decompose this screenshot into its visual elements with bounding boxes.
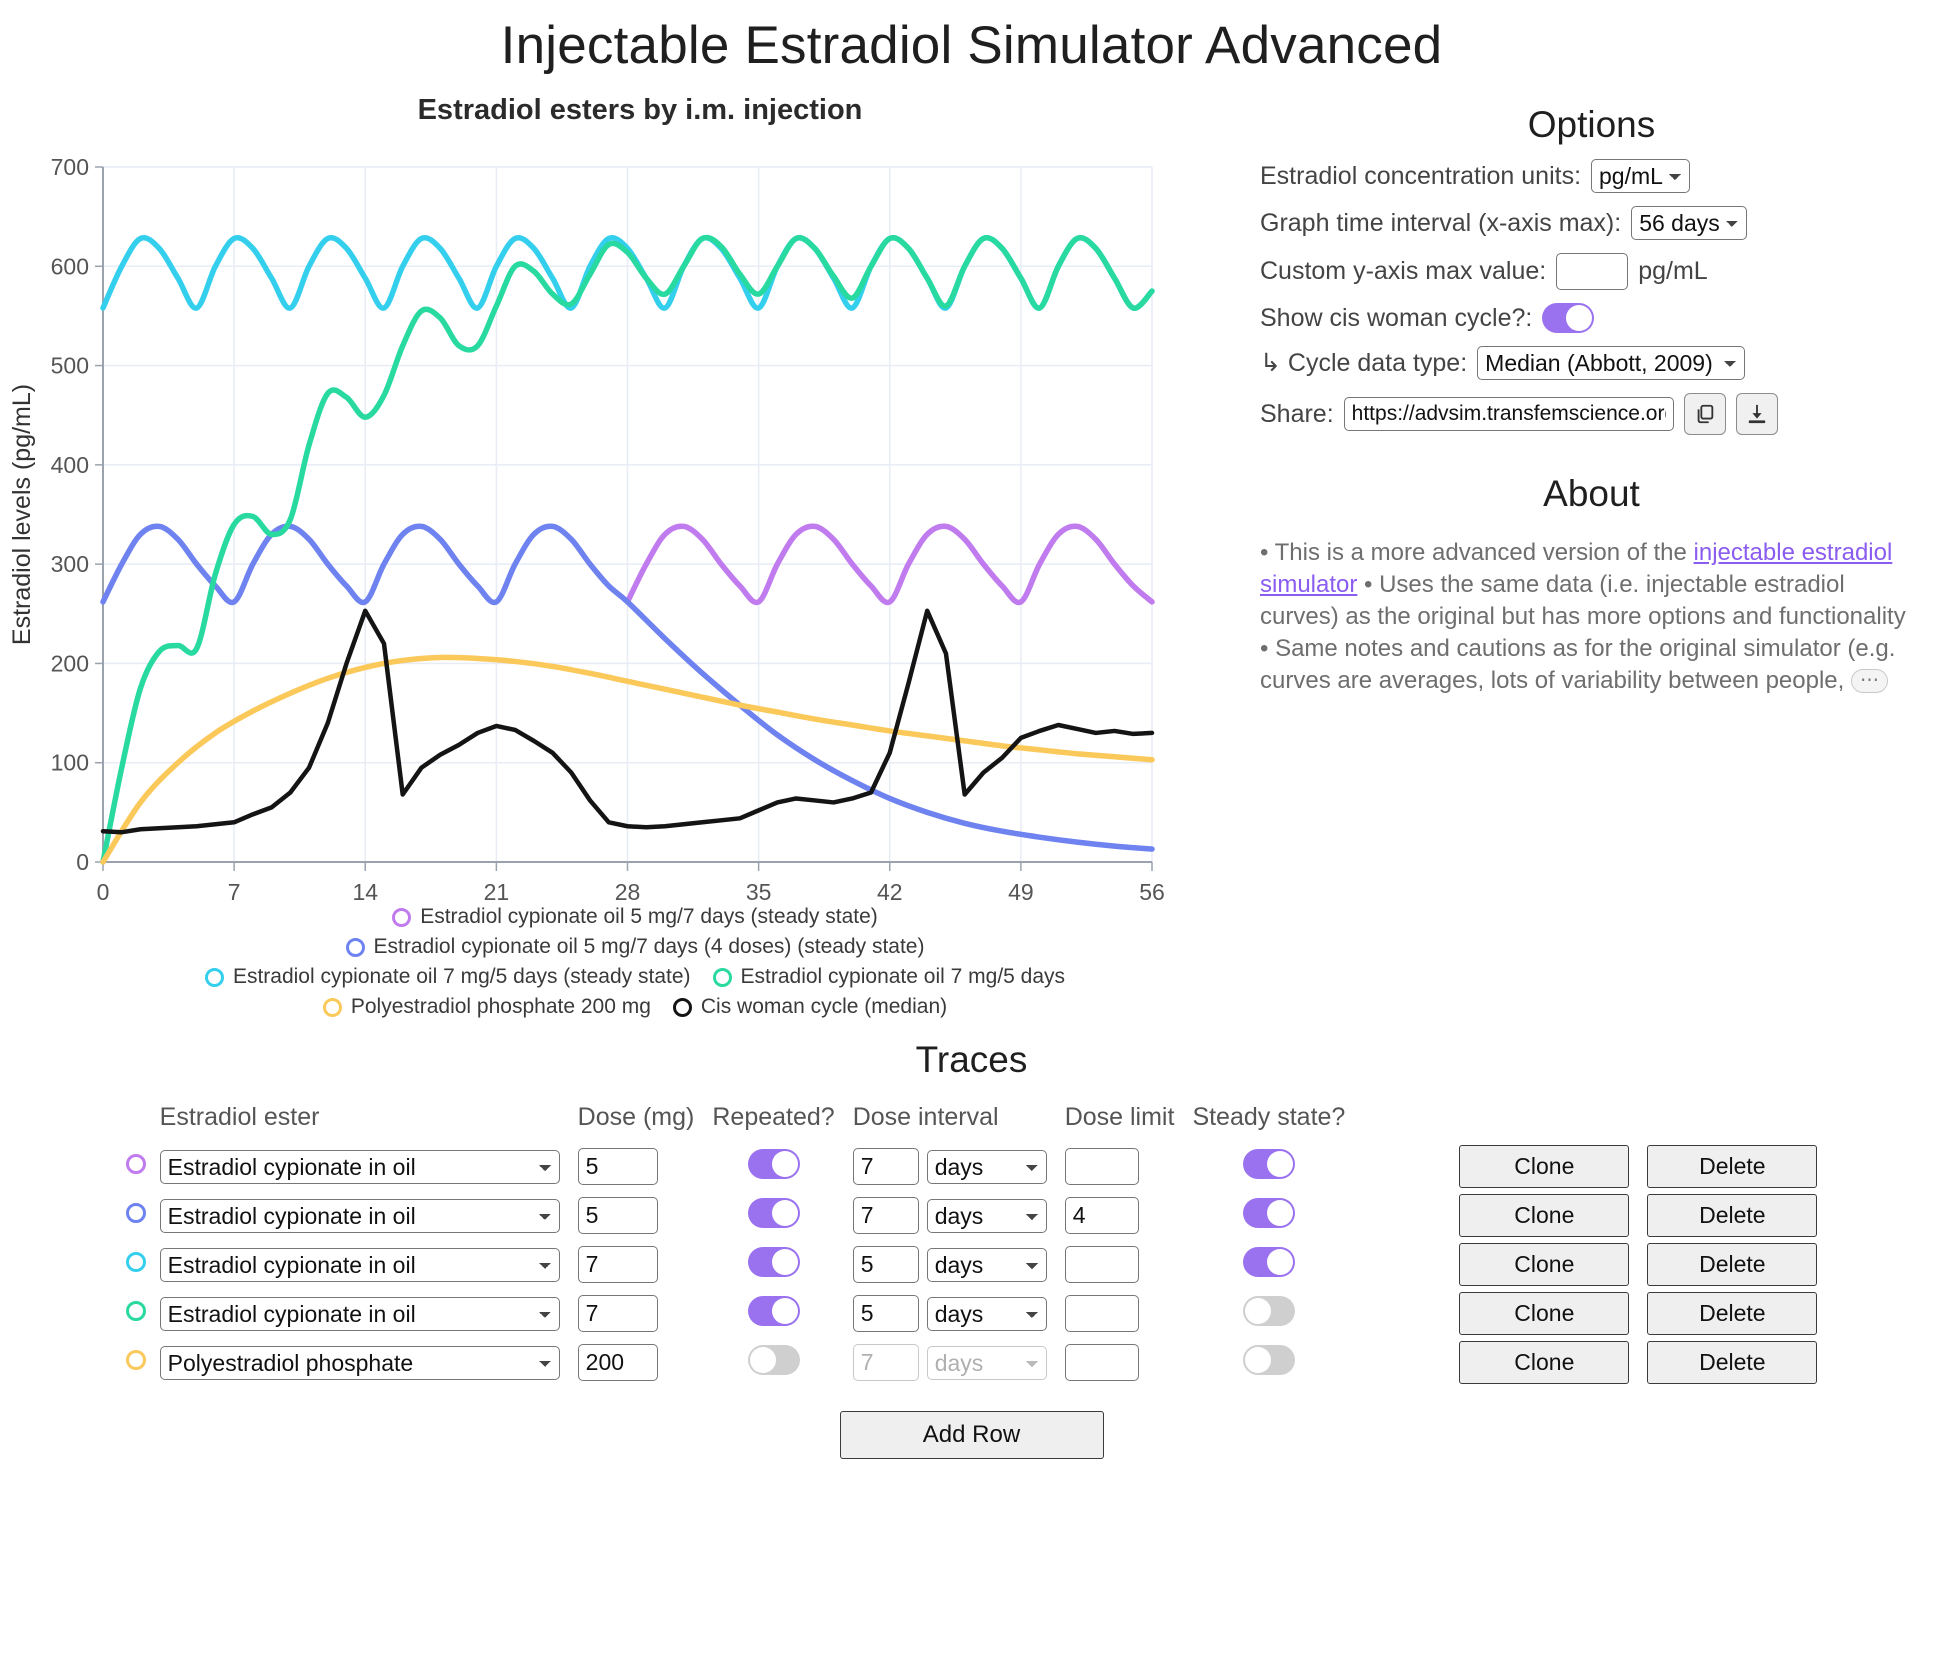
repeated-cell <box>712 1240 852 1289</box>
steady-state-toggle[interactable] <box>1243 1247 1295 1277</box>
clone-cell: Clone <box>1363 1142 1629 1191</box>
options-heading: Options <box>1240 76 1943 146</box>
trace-color-icon <box>126 1154 146 1174</box>
legend-item-1[interactable]: Estradiol cypionate oil 5 mg/7 days (4 d… <box>346 935 925 959</box>
dose-input[interactable] <box>578 1148 658 1185</box>
toggle-knob-icon <box>750 1347 776 1373</box>
download-button[interactable] <box>1736 393 1778 435</box>
show-cycle-toggle[interactable] <box>1542 303 1594 333</box>
steady-cell <box>1192 1142 1363 1191</box>
steady-cell <box>1192 1191 1363 1240</box>
repeated-toggle[interactable] <box>748 1296 800 1326</box>
legend-label: Polyestradiol phosphate 200 mg <box>351 995 651 1019</box>
steady-state-toggle[interactable] <box>1243 1149 1295 1179</box>
interval-unit-cell: days <box>919 1142 1065 1191</box>
clone-button[interactable]: Clone <box>1459 1243 1629 1286</box>
x-tick-label: 28 <box>615 879 641 905</box>
repeated-cell <box>712 1289 852 1338</box>
toggle-knob-icon <box>1245 1347 1271 1373</box>
toggle-knob-icon <box>772 1200 798 1226</box>
trace-color-icon <box>126 1301 146 1321</box>
y-tick-label: 200 <box>51 650 89 676</box>
time-interval-row: Graph time interval (x-axis max): 56 day… <box>1240 193 1943 240</box>
cycle-data-select[interactable]: Median (Abbott, 2009) <box>1477 346 1745 380</box>
interval-unit-select[interactable]: days <box>927 1248 1047 1282</box>
units-row: Estradiol concentration units: pg/mL <box>1240 146 1943 193</box>
x-tick-label: 14 <box>352 879 378 905</box>
traces-heading: Traces <box>0 1025 1943 1081</box>
table-row: Estradiol cypionate in oildaysCloneDelet… <box>126 1142 1818 1191</box>
add-row-button[interactable]: Add Row <box>840 1411 1104 1459</box>
legend-swatch-icon <box>713 968 732 987</box>
th-steady: Steady state? <box>1192 1103 1363 1142</box>
table-row: Polyestradiol phosphatedaysCloneDelete <box>126 1338 1818 1387</box>
interval-unit-select[interactable]: days <box>927 1199 1047 1233</box>
y-axis-title: Estradiol levels (pg/mL) <box>8 384 36 645</box>
x-tick-label: 56 <box>1139 879 1165 905</box>
clone-button[interactable]: Clone <box>1459 1292 1629 1335</box>
delete-cell: Delete <box>1629 1191 1817 1240</box>
limit-cell <box>1065 1289 1193 1338</box>
th-clone <box>1363 1103 1629 1142</box>
copy-icon <box>1694 403 1716 425</box>
legend-row-2: Estradiol cypionate oil 5 mg/7 days (4 d… <box>0 935 1240 959</box>
interval-unit-cell: days <box>919 1338 1065 1387</box>
traces-table-head: Estradiol ester Dose (mg) Repeated? Dose… <box>126 1103 1818 1142</box>
share-row: Share: <box>1240 380 1943 435</box>
th-ester: Estradiol ester <box>160 1103 578 1142</box>
main-layout: Estradiol esters by i.m. injection 01002… <box>0 76 1943 1025</box>
custom-y-suffix: pg/mL <box>1638 257 1707 286</box>
legend-swatch-icon <box>673 998 692 1017</box>
ester-cell: Estradiol cypionate in oil <box>160 1240 578 1289</box>
dose-limit-input[interactable] <box>1065 1295 1139 1332</box>
interval-unit-select[interactable]: days <box>927 1150 1047 1184</box>
traces-header-row: Estradiol ester Dose (mg) Repeated? Dose… <box>126 1103 1818 1142</box>
limit-cell <box>1065 1338 1193 1387</box>
repeated-toggle[interactable] <box>748 1198 800 1228</box>
steady-state-toggle[interactable] <box>1243 1345 1295 1375</box>
cycle-toggle-row: Show cis woman cycle?: <box>1240 290 1943 333</box>
ester-select[interactable]: Estradiol cypionate in oil <box>160 1199 560 1233</box>
clone-cell: Clone <box>1363 1191 1629 1240</box>
delete-cell: Delete <box>1629 1240 1817 1289</box>
dose-limit-input[interactable] <box>1065 1197 1139 1234</box>
cycle-toggle-label: Show cis woman cycle?: <box>1260 304 1532 333</box>
legend-swatch-icon <box>346 938 365 957</box>
copy-button[interactable] <box>1684 393 1726 435</box>
steady-state-toggle[interactable] <box>1243 1198 1295 1228</box>
ester-cell: Estradiol cypionate in oil <box>160 1142 578 1191</box>
legend-item-5[interactable]: Cis woman cycle (median) <box>673 995 947 1019</box>
interval-unit-select[interactable]: days <box>927 1297 1047 1331</box>
toggle-knob-icon <box>772 1298 798 1324</box>
clone-button[interactable]: Clone <box>1459 1194 1629 1237</box>
row-color-cell <box>126 1142 160 1191</box>
cycle-data-label: ↳ Cycle data type: <box>1260 348 1467 378</box>
options-column: Options Estradiol concentration units: p… <box>1240 76 1943 697</box>
delete-button[interactable]: Delete <box>1647 1145 1817 1188</box>
clone-button[interactable]: Clone <box>1459 1341 1629 1384</box>
about-text-part1: • This is a more advanced version of the <box>1260 539 1694 566</box>
time-interval-select[interactable]: 56 days <box>1631 206 1747 240</box>
interval-unit-cell: days <box>919 1240 1065 1289</box>
legend-swatch-icon <box>205 968 224 987</box>
x-tick-label: 7 <box>228 879 241 905</box>
traces-table: Estradiol ester Dose (mg) Repeated? Dose… <box>126 1103 1818 1387</box>
page-title: Injectable Estradiol Simulator Advanced <box>0 0 1943 76</box>
repeated-cell <box>712 1338 852 1387</box>
share-label: Share: <box>1260 400 1334 429</box>
interval-value-cell <box>853 1142 919 1191</box>
y-tick-label: 400 <box>51 452 89 478</box>
interval-unit-cell: days <box>919 1289 1065 1338</box>
clone-cell: Clone <box>1363 1289 1629 1338</box>
row-color-cell <box>126 1289 160 1338</box>
x-tick-label: 35 <box>746 879 772 905</box>
units-select[interactable]: pg/mL <box>1591 159 1690 193</box>
row-color-cell <box>126 1338 160 1387</box>
ester-cell: Polyestradiol phosphate <box>160 1338 578 1387</box>
table-row: Estradiol cypionate in oildaysCloneDelet… <box>126 1240 1818 1289</box>
y-tick-label: 600 <box>51 253 89 279</box>
th-dose: Dose (mg) <box>578 1103 713 1142</box>
delete-cell: Delete <box>1629 1142 1817 1191</box>
y-tick-label: 700 <box>51 154 89 180</box>
th-color <box>126 1103 160 1142</box>
ester-select[interactable]: Polyestradiol phosphate <box>160 1346 560 1380</box>
table-row: Estradiol cypionate in oildaysCloneDelet… <box>126 1289 1818 1338</box>
dose-input[interactable] <box>578 1197 658 1234</box>
repeated-cell <box>712 1142 852 1191</box>
steady-cell <box>1192 1338 1363 1387</box>
trace-color-icon <box>126 1203 146 1223</box>
clone-cell: Clone <box>1363 1240 1629 1289</box>
toggle-knob-icon <box>772 1151 798 1177</box>
delete-cell: Delete <box>1629 1338 1817 1387</box>
y-tick-label: 300 <box>51 551 89 577</box>
steady-cell <box>1192 1289 1363 1338</box>
download-icon <box>1746 403 1768 425</box>
chart-column: Estradiol esters by i.m. injection 01002… <box>0 76 1240 1025</box>
traces-section: Traces Estradiol ester Dose (mg) Repeate… <box>0 1025 1943 1459</box>
y-tick-label: 0 <box>76 849 89 875</box>
row-color-cell <box>126 1191 160 1240</box>
time-interval-label: Graph time interval (x-axis max): <box>1260 209 1621 238</box>
units-label: Estradiol concentration units: <box>1260 162 1581 191</box>
th-delete <box>1629 1103 1817 1142</box>
dose-cell <box>578 1191 713 1240</box>
repeated-cell <box>712 1191 852 1240</box>
limit-cell <box>1065 1191 1193 1240</box>
delete-button[interactable]: Delete <box>1647 1243 1817 1286</box>
interval-input[interactable] <box>853 1246 919 1283</box>
custom-y-row: Custom y-axis max value: pg/mL <box>1240 240 1943 290</box>
interval-input[interactable] <box>853 1197 919 1234</box>
estradiol-line-chart: 01002003004005006007000714212835424956Ti… <box>0 127 1200 917</box>
clone-cell: Clone <box>1363 1338 1629 1387</box>
table-row: Estradiol cypionate in oildaysCloneDelet… <box>126 1191 1818 1240</box>
toggle-knob-icon <box>772 1249 798 1275</box>
ester-select[interactable]: Estradiol cypionate in oil <box>160 1150 560 1184</box>
dose-input[interactable] <box>578 1344 658 1381</box>
dose-limit-input[interactable] <box>1065 1148 1139 1185</box>
x-tick-label: 42 <box>877 879 903 905</box>
th-limit: Dose limit <box>1065 1103 1193 1142</box>
about-text-part2: • Uses the same data (i.e. injectable es… <box>1260 571 1906 694</box>
legend-label: Estradiol cypionate oil 7 mg/5 days <box>741 965 1066 989</box>
trace-color-icon <box>126 1350 146 1370</box>
ester-select[interactable]: Estradiol cypionate in oil <box>160 1297 560 1331</box>
legend-label: Estradiol cypionate oil 7 mg/5 days (ste… <box>233 965 691 989</box>
cycle-data-row: ↳ Cycle data type: Median (Abbott, 2009) <box>1240 333 1943 380</box>
dose-input[interactable] <box>578 1246 658 1283</box>
ester-cell: Estradiol cypionate in oil <box>160 1289 578 1338</box>
dose-cell <box>578 1289 713 1338</box>
limit-cell <box>1065 1240 1193 1289</box>
dose-limit-input[interactable] <box>1065 1344 1139 1381</box>
dose-cell <box>578 1240 713 1289</box>
interval-value-cell <box>853 1289 919 1338</box>
x-tick-label: 0 <box>97 879 110 905</box>
chart-legend: Estradiol cypionate oil 5 mg/7 days (ste… <box>0 905 1240 1019</box>
th-repeated: Repeated? <box>712 1103 852 1142</box>
toggle-knob-icon <box>1245 1298 1271 1324</box>
ester-cell: Estradiol cypionate in oil <box>160 1191 578 1240</box>
legend-label: Cis woman cycle (median) <box>701 995 947 1019</box>
dose-cell <box>578 1338 713 1387</box>
toggle-knob-icon <box>1267 1151 1293 1177</box>
repeated-toggle[interactable] <box>748 1345 800 1375</box>
delete-button[interactable]: Delete <box>1647 1292 1817 1335</box>
y-tick-label: 500 <box>51 353 89 379</box>
legend-item-2[interactable]: Estradiol cypionate oil 7 mg/5 days (ste… <box>205 965 691 989</box>
interval-input[interactable] <box>853 1295 919 1332</box>
y-tick-label: 100 <box>51 750 89 776</box>
about-heading: About <box>1240 435 1943 515</box>
dose-input[interactable] <box>578 1295 658 1332</box>
steady-cell <box>1192 1240 1363 1289</box>
delete-button[interactable]: Delete <box>1647 1194 1817 1237</box>
trace-color-icon <box>126 1252 146 1272</box>
legend-swatch-icon <box>323 998 342 1017</box>
interval-unit-select[interactable]: days <box>927 1346 1047 1380</box>
ester-select[interactable]: Estradiol cypionate in oil <box>160 1248 560 1282</box>
toggle-knob-icon <box>1267 1200 1293 1226</box>
row-color-cell <box>126 1240 160 1289</box>
custom-y-label: Custom y-axis max value: <box>1260 257 1546 286</box>
delete-cell: Delete <box>1629 1289 1817 1338</box>
dose-cell <box>578 1142 713 1191</box>
th-interval: Dose interval <box>853 1103 1065 1142</box>
clone-button[interactable]: Clone <box>1459 1145 1629 1188</box>
legend-label: Estradiol cypionate oil 5 mg/7 days (4 d… <box>374 935 925 959</box>
about-expand-button[interactable]: ⋯ <box>1851 669 1888 693</box>
chart-area: 01002003004005006007000714212835424956Ti… <box>0 127 1240 917</box>
interval-input[interactable] <box>853 1148 919 1185</box>
legend-row-4: Polyestradiol phosphate 200 mg Cis woman… <box>0 995 1240 1019</box>
limit-cell <box>1065 1142 1193 1191</box>
interval-input[interactable] <box>853 1344 919 1381</box>
share-url-input[interactable] <box>1344 397 1674 431</box>
custom-y-input[interactable] <box>1556 253 1628 290</box>
legend-item-3[interactable]: Estradiol cypionate oil 7 mg/5 days <box>713 965 1066 989</box>
interval-value-cell <box>853 1240 919 1289</box>
toggle-knob-icon <box>1267 1249 1293 1275</box>
toggle-knob-icon <box>1566 305 1592 331</box>
delete-button[interactable]: Delete <box>1647 1341 1817 1384</box>
x-tick-label: 49 <box>1008 879 1034 905</box>
repeated-toggle[interactable] <box>748 1247 800 1277</box>
interval-value-cell <box>853 1191 919 1240</box>
interval-value-cell <box>853 1338 919 1387</box>
repeated-toggle[interactable] <box>748 1149 800 1179</box>
chart-title: Estradiol esters by i.m. injection <box>0 76 1240 127</box>
about-text: • This is a more advanced version of the… <box>1240 515 1943 697</box>
traces-table-body: Estradiol cypionate in oildaysCloneDelet… <box>126 1142 1818 1387</box>
x-tick-label: 21 <box>484 879 510 905</box>
dose-limit-input[interactable] <box>1065 1246 1139 1283</box>
legend-row-3: Estradiol cypionate oil 7 mg/5 days (ste… <box>0 965 1240 989</box>
interval-unit-cell: days <box>919 1191 1065 1240</box>
steady-state-toggle[interactable] <box>1243 1296 1295 1326</box>
legend-item-4[interactable]: Polyestradiol phosphate 200 mg <box>323 995 651 1019</box>
